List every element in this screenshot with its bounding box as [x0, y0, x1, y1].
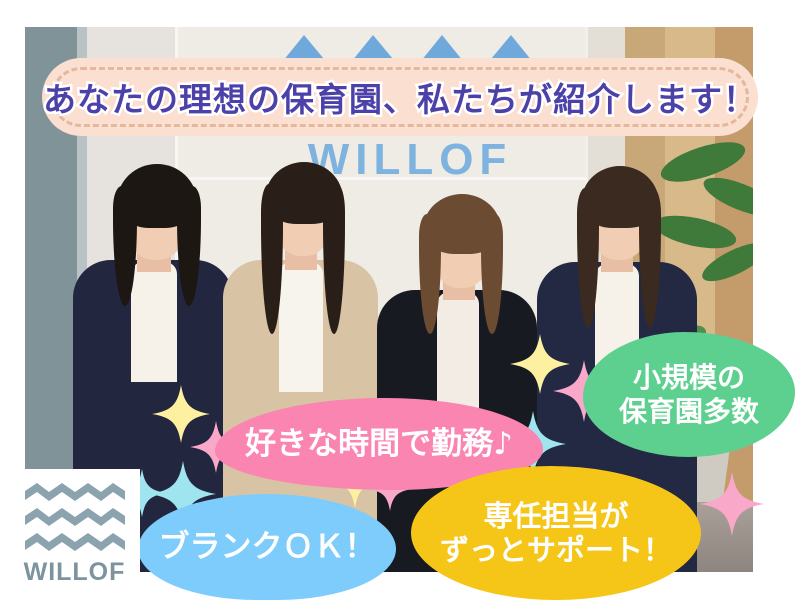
callout-bubble-small-nursery: 小規模の 保育園多数 [583, 332, 795, 457]
callout-line-2: 保育園多数 [619, 395, 759, 428]
headline-banner: あなたの理想の保育園、私たちが紹介します！ [42, 58, 758, 136]
callout-line-1: 専任担当が [440, 499, 672, 533]
willof-logo-card: WILLOF [9, 469, 140, 600]
callout-line-1: ブランクＯＫ！ [159, 529, 376, 566]
callout-line-1: 小規模の [619, 361, 759, 394]
willof-logo-text: WILLOF [24, 558, 126, 587]
callout-bubble-blank-ok: ブランクＯＫ！ [138, 494, 396, 600]
callout-bubble-dedicated-support: 専任担当が ずっとサポート！ [411, 466, 701, 600]
callout-line-2: ずっとサポート！ [440, 533, 672, 567]
ad-banner-stage: WILLOF [0, 0, 800, 600]
zigzag-wave-icon [25, 483, 125, 553]
headline-text: あなたの理想の保育園、私たちが紹介します！ [42, 58, 758, 136]
callout-line-1: 好きな時間で勤務♪ [245, 426, 513, 463]
